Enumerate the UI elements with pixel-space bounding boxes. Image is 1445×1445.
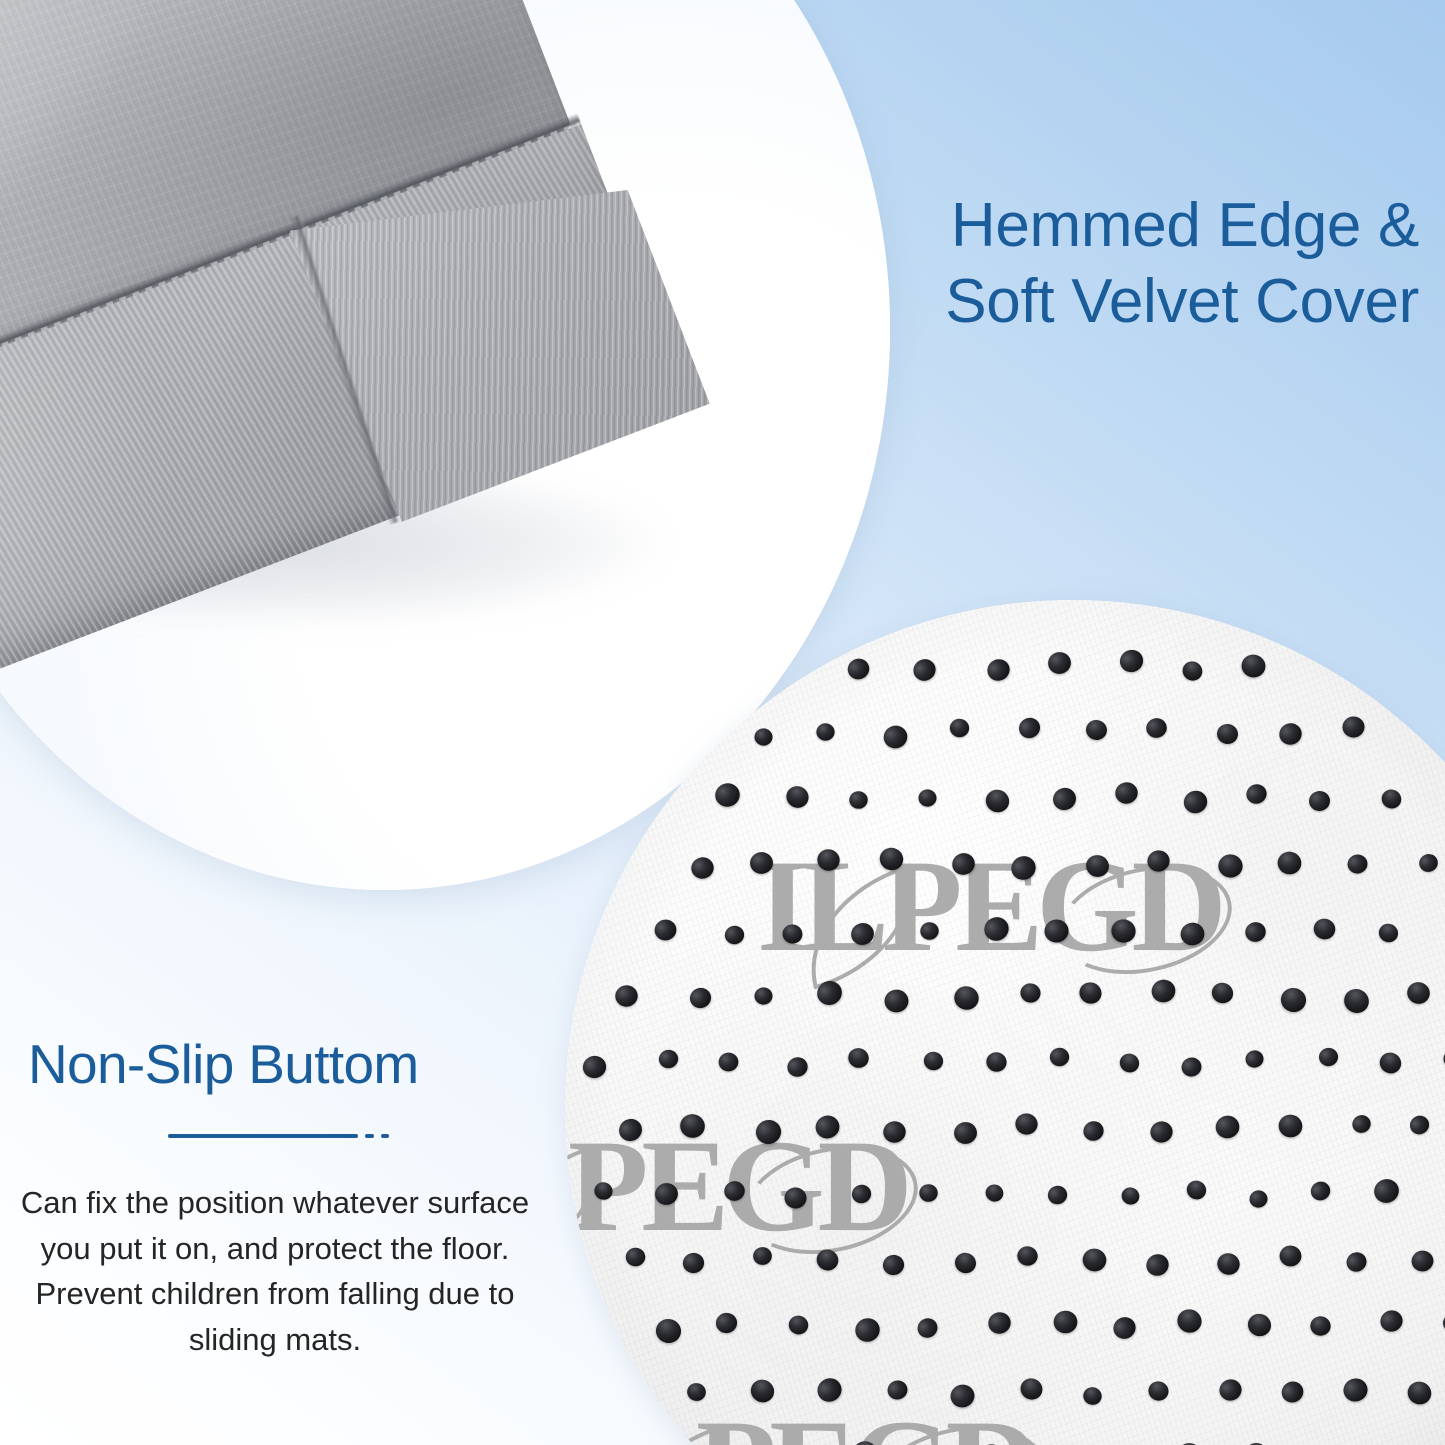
anti-slip-dot [1308, 789, 1331, 812]
anti-slip-dot [653, 1181, 680, 1207]
anti-slip-dot [615, 1115, 646, 1145]
anti-slip-dot [883, 1120, 908, 1144]
anti-slip-dot [1216, 722, 1240, 745]
anti-slip-dot [1016, 1245, 1039, 1268]
anti-slip-dot [1405, 980, 1432, 1006]
anti-slip-dot [815, 847, 842, 873]
anti-slip-dot [1371, 1176, 1402, 1206]
anti-slip-dot [749, 851, 774, 875]
anti-slip-dot [713, 781, 742, 809]
anti-slip-dot [754, 1118, 783, 1147]
non-slip-bottom-photo-circle: ILPEGD ILPEGD ILPEGD [565, 600, 1445, 1445]
anti-slip-dot [919, 921, 940, 941]
headline-line-2: Soft Velvet Cover [799, 264, 1419, 340]
anti-slip-dot [1350, 1112, 1374, 1135]
feature-body-text: Can fix the position whatever surface yo… [10, 1180, 540, 1362]
headline: Hemmed Edge & Soft Velvet Cover [799, 188, 1419, 339]
anti-slip-dot [1179, 658, 1206, 684]
anti-slip-dot [1114, 780, 1140, 805]
anti-slip-dot [1085, 718, 1109, 742]
anti-slip-dot [787, 1313, 810, 1335]
divider-dash [381, 1134, 389, 1138]
anti-slip-dot [686, 1382, 707, 1403]
anti-slip-dot [754, 729, 772, 746]
anti-slip-dot [1318, 1046, 1339, 1067]
anti-slip-dot [816, 723, 835, 741]
anti-slip-dot [1214, 1250, 1242, 1277]
anti-slip-dot [953, 1121, 978, 1145]
anti-slip-dot [1248, 1188, 1269, 1208]
anti-slip-dot [884, 989, 909, 1013]
anti-slip-dot [1049, 1047, 1070, 1067]
anti-slip-dot [1308, 1178, 1333, 1203]
anti-slip-dot [580, 1054, 608, 1081]
anti-slip-dot [848, 920, 877, 949]
anti-slip-dot [718, 1052, 739, 1072]
anti-slip-dot [882, 1253, 906, 1277]
anti-slip-dot [1343, 1249, 1370, 1275]
anti-slip-dot [949, 850, 978, 878]
title-divider [168, 1134, 389, 1138]
anti-slip-dot [1278, 1378, 1307, 1407]
anti-slip-dot [1276, 720, 1304, 747]
anti-slip-dot [1053, 1310, 1078, 1334]
anti-slip-dot [1146, 848, 1172, 873]
anti-slip-dot [654, 1317, 684, 1346]
anti-slip-dot [1080, 1246, 1108, 1274]
anti-slip-dot [1179, 921, 1206, 947]
anti-slip-dot [1148, 1119, 1175, 1145]
anti-slip-dot [1309, 1315, 1331, 1336]
headline-line-1: Hemmed Edge & [799, 188, 1419, 264]
anti-slip-dot [951, 982, 982, 1012]
anti-slip-dot [1311, 916, 1337, 942]
anti-slip-dot [1109, 917, 1138, 946]
anti-slip-dot [1346, 852, 1370, 875]
anti-slip-dot [813, 1113, 842, 1142]
anti-slip-dot [1175, 1441, 1205, 1445]
divider-dash [365, 1134, 374, 1138]
anti-slip-dot [1277, 1113, 1304, 1139]
anti-slip-dot [1216, 1376, 1244, 1403]
feature-title: Non-Slip Buttom [28, 1034, 419, 1095]
anti-slip-dot [849, 1437, 882, 1445]
anti-slip-dot [845, 1045, 871, 1071]
anti-slip-dot [984, 656, 1014, 685]
anti-slip-dot [948, 1382, 976, 1410]
anti-slip-dot [844, 656, 872, 683]
anti-slip-dot [722, 1179, 747, 1203]
anti-slip-dot [918, 789, 937, 807]
anti-slip-dot [919, 1184, 938, 1202]
anti-slip-dot [1214, 1114, 1241, 1141]
anti-slip-dot [682, 1252, 706, 1275]
anti-slip-dot [747, 1376, 778, 1407]
anti-slip-dot [1080, 1119, 1106, 1144]
anti-slip-dot [1410, 1250, 1434, 1273]
anti-slip-dot [1441, 1047, 1445, 1070]
anti-slip-dot [983, 1182, 1006, 1204]
anti-slip-dot [1109, 1313, 1139, 1343]
anti-slip-dot [1243, 781, 1269, 807]
anti-slip-dot [1376, 921, 1401, 946]
anti-slip-dot [1043, 918, 1071, 945]
anti-slip-dot [1244, 1310, 1274, 1340]
anti-slip-dot [1049, 784, 1079, 814]
anti-slip-dot [754, 987, 772, 1005]
anti-slip-dot [813, 1374, 846, 1406]
anti-slip-dot [1174, 1306, 1205, 1336]
anti-slip-dot [1150, 978, 1178, 1005]
anti-slip-dot [689, 855, 716, 881]
anti-slip-dot [984, 1049, 1010, 1074]
anti-slip-dot [1341, 1375, 1371, 1404]
anti-slip-dot [1019, 982, 1042, 1005]
anti-slip-dot [592, 1179, 616, 1202]
anti-slip-dot [715, 1312, 739, 1336]
anti-slip-dot [1014, 1112, 1039, 1136]
anti-slip-dot [949, 718, 970, 738]
anti-slip-dot [922, 1050, 945, 1073]
anti-slip-dot [1046, 650, 1072, 675]
anti-slip-dot [753, 1247, 772, 1265]
anti-slip-dot [1243, 920, 1268, 945]
anti-slip-dot [1279, 985, 1310, 1015]
anti-slip-dot [1379, 787, 1405, 812]
anti-slip-dot [885, 1378, 910, 1402]
anti-slip-dot [1146, 1379, 1171, 1403]
anti-slip-dot [986, 1310, 1013, 1336]
anti-slip-dot [881, 723, 910, 752]
anti-slip-dot [1279, 1245, 1302, 1267]
anti-slip-dot [1378, 1307, 1406, 1334]
anti-slip-dot [687, 986, 713, 1011]
infographic-canvas: ILPEGD ILPEGD ILPEGD Hemmed Edge & Soft … [0, 0, 1445, 1445]
anti-slip-dot [814, 1246, 842, 1274]
anti-slip-dot [914, 1315, 941, 1342]
anti-slip-dot [782, 782, 812, 812]
anti-slip-dot [1341, 716, 1365, 739]
anti-slip-dot [877, 845, 906, 873]
anti-slip-dot [849, 790, 868, 809]
anti-slip-dot [625, 1247, 646, 1267]
anti-slip-dot [1376, 1049, 1405, 1077]
anti-slip-dot [1217, 853, 1243, 878]
anti-slip-dot [1018, 1375, 1047, 1403]
anti-slip-dot [813, 977, 846, 1009]
anti-slip-dot [1181, 787, 1211, 816]
anti-slip-dot [1076, 979, 1105, 1007]
anti-slip-dot [785, 1187, 808, 1209]
anti-slip-dots [565, 600, 1445, 1445]
anti-slip-dot [652, 917, 678, 943]
anti-slip-dot [1276, 850, 1303, 876]
anti-slip-dot [614, 984, 638, 1007]
anti-slip-dot [1007, 852, 1039, 884]
anti-slip-dot [781, 923, 804, 945]
anti-slip-dot [677, 1112, 706, 1140]
anti-slip-dot [1242, 1440, 1271, 1445]
anti-slip-dot [1407, 1112, 1433, 1137]
anti-slip-dot [1340, 985, 1373, 1018]
divider-rule [168, 1134, 358, 1138]
anti-slip-dot [1119, 1184, 1143, 1207]
anti-slip-dot [1405, 1378, 1435, 1407]
anti-slip-dot [1442, 1313, 1445, 1334]
anti-slip-dot [850, 1182, 874, 1205]
anti-slip-dot [1117, 1050, 1143, 1075]
anti-slip-dot [1046, 1184, 1069, 1207]
anti-slip-dot [1144, 717, 1168, 740]
anti-slip-dot [910, 656, 940, 686]
anti-slip-dot [1015, 715, 1043, 742]
anti-slip-dot [1084, 853, 1111, 879]
anti-slip-dot [723, 924, 746, 946]
anti-slip-dot [952, 1249, 980, 1276]
anti-slip-dot [1239, 653, 1267, 680]
anti-slip-dot [1244, 1049, 1266, 1070]
anti-slip-dot [852, 1315, 883, 1345]
anti-slip-dot [1208, 980, 1236, 1007]
anti-slip-dot [980, 914, 1012, 946]
anti-slip-dot [1183, 1177, 1209, 1202]
anti-slip-dot [1143, 1251, 1172, 1280]
anti-slip-dot [1081, 1385, 1104, 1407]
anti-slip-dot [785, 1055, 810, 1080]
anti-slip-dot [1179, 1056, 1203, 1080]
anti-slip-dot [1417, 851, 1440, 874]
anti-slip-dot [657, 1048, 680, 1070]
anti-slip-dot [982, 786, 1013, 816]
anti-slip-dot [1116, 646, 1146, 675]
